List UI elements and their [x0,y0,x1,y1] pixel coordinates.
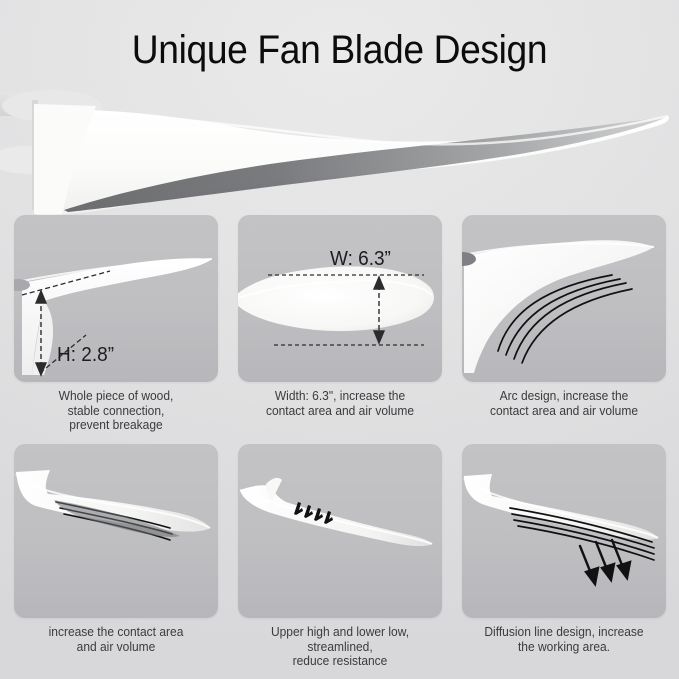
caption-line: the working area. [466,640,662,655]
product-infographic: Unique Fan Blade Design [0,0,679,679]
panel-image-width [238,215,442,382]
caption-line: reduce resistance [242,654,438,669]
caption-line: contact area and air volume [242,404,438,419]
caption-line: Arc design, increase the [466,389,662,404]
caption-line: Whole piece of wood, [18,389,214,404]
caption-contact-area: increase the contact area and air volume [18,625,214,654]
caption-line: and air volume [18,640,214,655]
panel-image-contact-area [14,444,218,618]
caption-line: Upper high and lower low, [242,625,438,640]
caption-line: prevent breakage [18,418,214,433]
caption-height: Whole piece of wood, stable connection, … [18,389,214,433]
caption-streamline: Upper high and lower low, streamlined, r… [242,625,438,669]
width-dimension-label: W: 6.3” [330,249,391,269]
feature-panel-height: Whole piece of wood, stable connection, … [14,215,218,433]
caption-line: Width: 6.3", increase the [242,389,438,404]
caption-diffusion: Diffusion line design, increase the work… [466,625,662,654]
panel-image-arc [462,215,666,382]
caption-line: streamlined, [242,640,438,655]
panel-image-diffusion [462,444,666,618]
caption-arc: Arc design, increase the contact area an… [466,389,662,418]
caption-line: Diffusion line design, increase [466,625,662,640]
panel-image-streamline [238,444,442,618]
caption-line: increase the contact area [18,625,214,640]
panel-image-height [14,215,218,382]
feature-panel-width: Width: 6.3", increase the contact area a… [238,215,442,418]
feature-panel-streamline: Upper high and lower low, streamlined, r… [238,444,442,669]
feature-panel-diffusion: Diffusion line design, increase the work… [462,444,666,654]
feature-panel-contact-area: increase the contact area and air volume [14,444,218,654]
caption-line: contact area and air volume [466,404,662,419]
caption-line: stable connection, [18,404,214,419]
feature-panel-grid: Whole piece of wood, stable connection, … [0,0,679,679]
feature-panel-arc: Arc design, increase the contact area an… [462,215,666,418]
height-dimension-label: H: 2.8” [57,345,114,365]
caption-width: Width: 6.3", increase the contact area a… [242,389,438,418]
